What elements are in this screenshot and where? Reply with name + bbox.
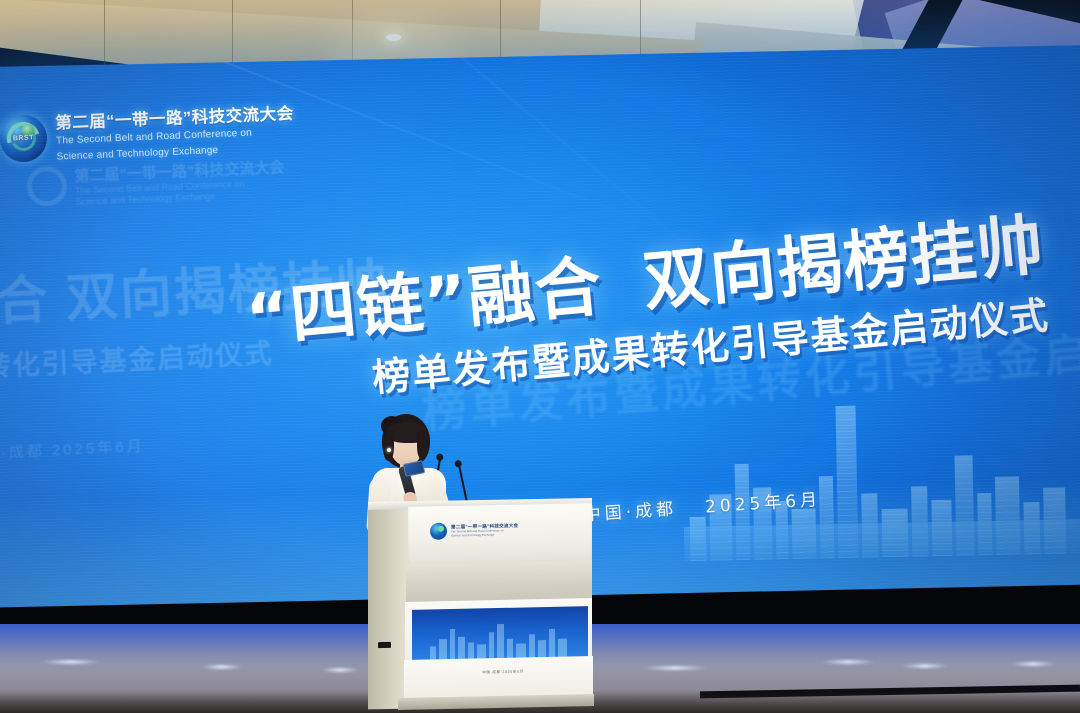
floor-light-reflection — [40, 660, 102, 664]
presenter-earring — [387, 448, 391, 452]
floor-light-reflection — [200, 665, 244, 669]
podium-logo-en-2: Science and Technology Exchange — [451, 533, 518, 538]
floor-light-reflection — [820, 660, 876, 664]
podium-logo-icon — [430, 523, 447, 540]
podium-skyline-graphic — [426, 622, 576, 659]
speaker-podium: 第二届“一带一路”科技交流大会 The Second Belt and Road… — [368, 500, 592, 713]
conference-stage-photo: 第二届“一带一路”科技交流大会 The Second Belt and Road… — [0, 0, 1080, 713]
presenter-hair-side-right — [417, 430, 428, 460]
podium-blue-panel — [412, 606, 588, 664]
podium-logo-lockup: 第二届“一带一路”科技交流大会 The Second Belt and Road… — [430, 521, 518, 540]
presenter-hair-side-left — [383, 430, 394, 461]
floor-light-reflection — [1010, 662, 1056, 666]
floor-light-reflection — [900, 664, 950, 668]
podium-vent-slot — [378, 642, 391, 648]
floor-light-reflection — [320, 668, 360, 672]
floor-light-reflection — [640, 666, 710, 670]
